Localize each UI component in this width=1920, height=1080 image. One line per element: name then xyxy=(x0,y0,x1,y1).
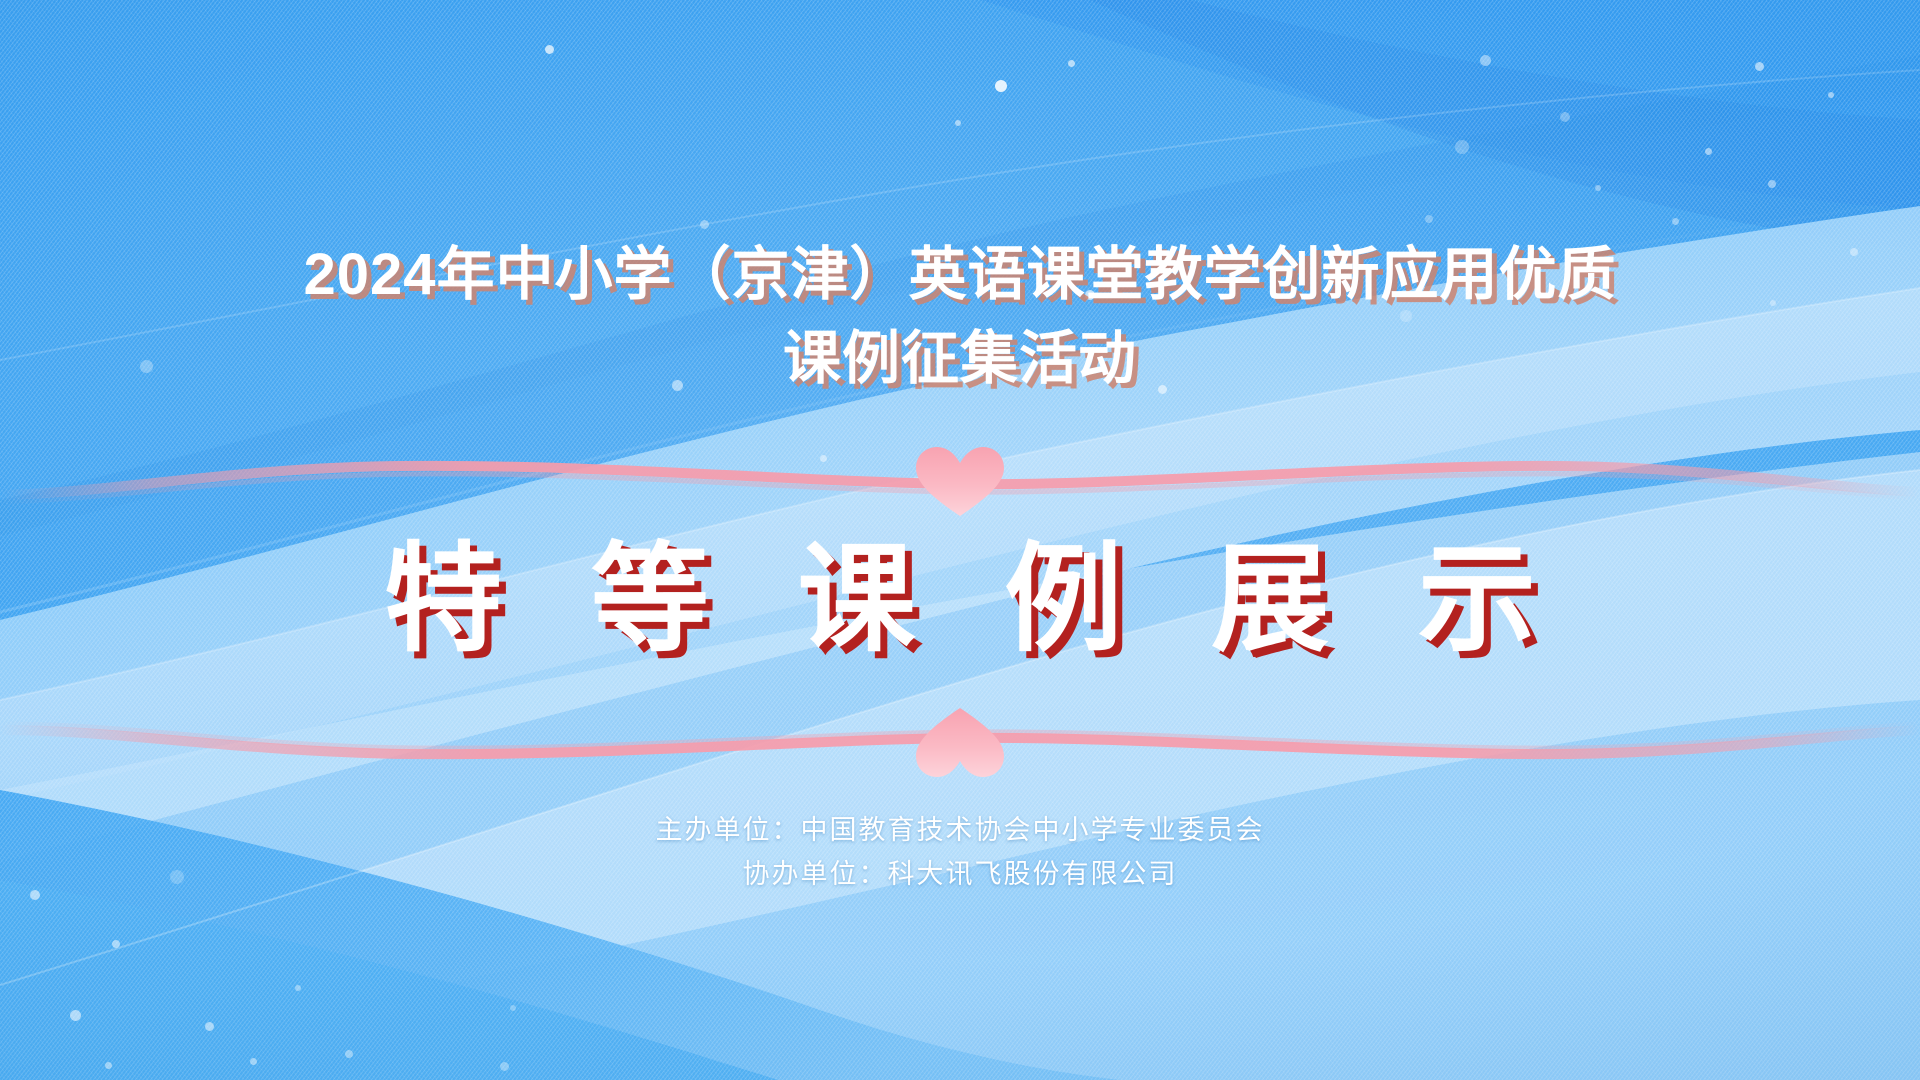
poster-canvas: 2024年中小学（京津）英语课堂教学创新应用优质 课例征集活动 xyxy=(0,0,1920,1080)
main-headline: 特 等 课 例 展 示 xyxy=(0,535,1920,665)
heart-icon xyxy=(916,447,1004,516)
divider-top-wave-heart xyxy=(0,440,1920,526)
event-subtitle-line-1: 2024年中小学（京津）英语课堂教学创新应用优质 xyxy=(303,242,1616,307)
organizer-host: 主办单位：中国教育技术协会中小学专业委员会 xyxy=(0,808,1920,852)
organizer-co-host: 协办单位：科大讯飞股份有限公司 xyxy=(0,852,1920,896)
event-subtitle: 2024年中小学（京津）英语课堂教学创新应用优质 课例征集活动 xyxy=(0,233,1920,401)
event-subtitle-line-2: 课例征集活动 xyxy=(0,317,1920,401)
divider-bottom-wave-heart xyxy=(0,700,1920,786)
organizer-block: 主办单位：中国教育技术协会中小学专业委员会 协办单位：科大讯飞股份有限公司 xyxy=(0,808,1920,896)
heart-icon-inverted xyxy=(916,708,1004,777)
